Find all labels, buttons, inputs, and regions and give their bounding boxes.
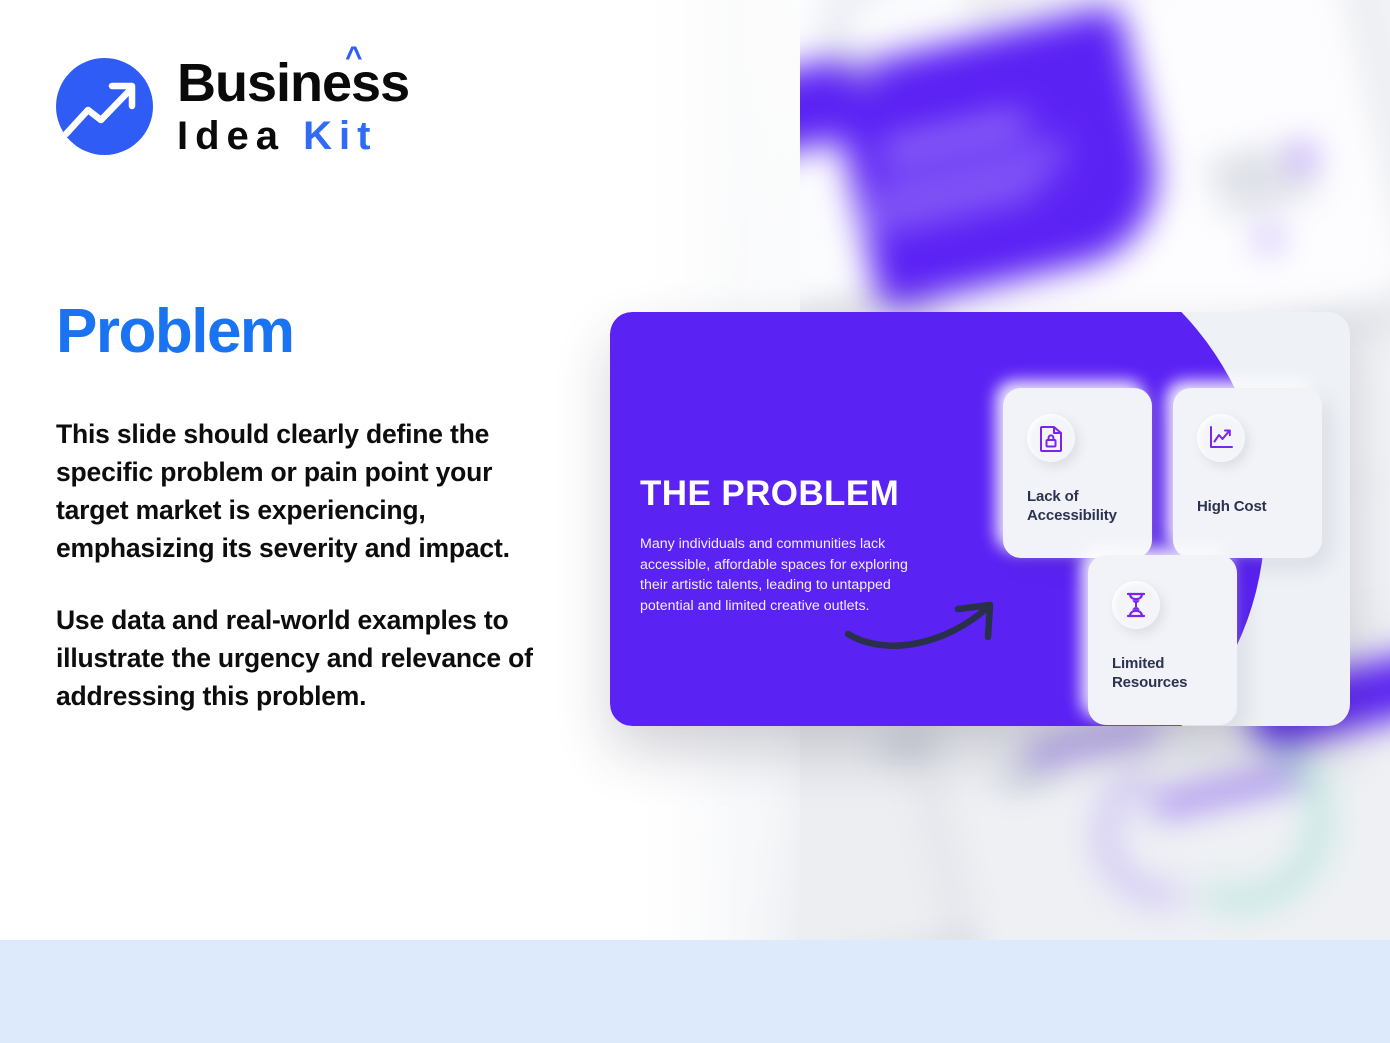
brand-logo[interactable]: Business ^ Idea Kit [56,56,409,156]
slide-heading: THE PROBLEM [640,474,960,514]
feature-label: High Cost [1197,498,1317,517]
page-description: This slide should clearly define the spe… [56,415,566,715]
backdrop-dot [1260,230,1278,248]
brand-name-bottom-accent: Kit [303,114,377,158]
bottom-accent-bar [0,940,1390,1043]
slide-preview-card[interactable]: THE PROBLEM Many individuals and communi… [610,312,1350,726]
feature-label: Lack of Accessibility [1027,488,1147,525]
feature-card-high-cost[interactable]: High Cost [1173,388,1322,558]
description-paragraph: Use data and real-world examples to illu… [56,601,566,715]
brand-name-top-text: Business [177,53,409,113]
brand-name-bottom: Idea Kit [177,116,409,156]
hourglass-icon [1112,581,1160,629]
line-chart-icon [1197,414,1245,462]
curved-arrow-icon [840,587,1010,657]
brand-caret-accent: ^ [345,43,362,73]
description-paragraph: This slide should clearly define the spe… [56,415,566,568]
document-lock-icon [1027,414,1075,462]
page-title: Problem [56,296,294,367]
backdrop-dot [1290,145,1314,169]
feature-card-accessibility[interactable]: Lack of Accessibility [1003,388,1152,558]
brand-name-top: Business ^ [177,56,409,110]
slide-preview-page: Business ^ Idea Kit Problem This slide s… [0,0,1390,1043]
feature-label: Limited Resources [1112,655,1232,692]
brand-wordmark: Business ^ Idea Kit [177,56,409,156]
brand-name-bottom-dark: Idea [177,114,303,158]
feature-card-limited-resources[interactable]: Limited Resources [1088,555,1237,725]
trending-up-arrow-icon [56,58,153,155]
